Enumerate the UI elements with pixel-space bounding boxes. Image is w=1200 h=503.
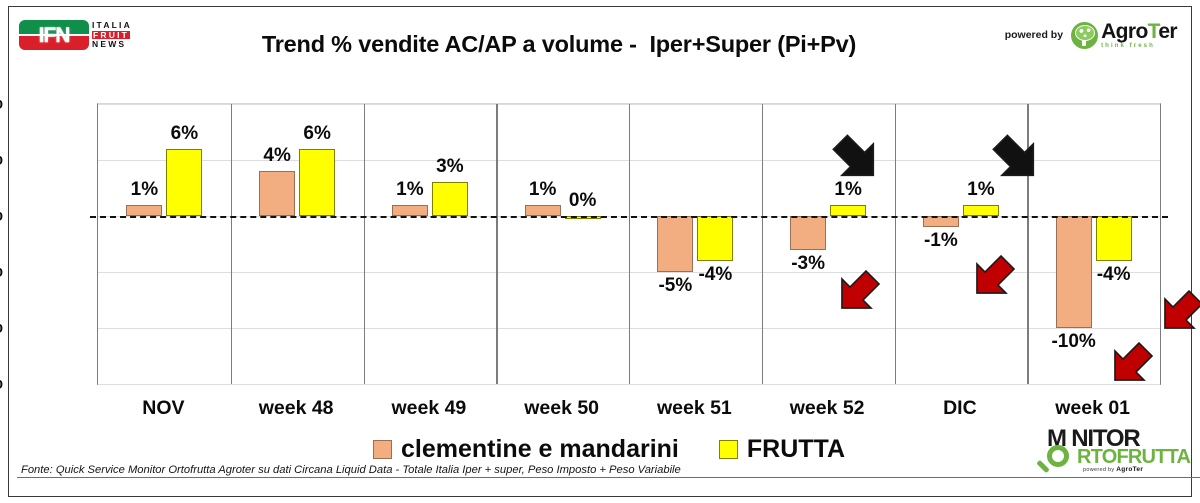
agroter-wordmark: AgroTer think fresh (1101, 21, 1177, 49)
ifn-wordmark: ITALIA FRUIT NEWS (92, 21, 132, 49)
legend-label-frutta: FRUTTA (747, 435, 845, 464)
agroter-logo: AgroTer think fresh (1071, 21, 1177, 49)
ifn-logo: IFN ITALIA FRUIT NEWS (19, 15, 147, 55)
bar-frutta (1096, 216, 1132, 261)
red-arrow-week52 (831, 265, 885, 324)
bar-value-label: 6% (171, 123, 198, 145)
bar-frutta (963, 205, 999, 216)
bar-value-label: 3% (436, 156, 463, 178)
bar-value-label: 1% (396, 179, 423, 201)
category-separator (629, 104, 630, 384)
category-separator (496, 104, 497, 384)
legend-swatch-clementine (373, 440, 392, 459)
bar-clementine (525, 205, 561, 216)
ifn-line-news: NEWS (92, 40, 132, 49)
page-title: Trend % vendite AC/AP a volume - Iper+Su… (189, 31, 929, 58)
y-tick-label: -15% (0, 372, 3, 395)
category-separator (895, 104, 896, 384)
bar-value-label: -3% (791, 253, 825, 275)
x-tick-label: week 49 (391, 397, 466, 420)
y-tick-label: 0% (0, 204, 3, 227)
x-tick-label: week 48 (259, 397, 334, 420)
zero-reference-line (90, 216, 1168, 218)
y-tick-label: 5% (0, 148, 3, 171)
bar-value-label: 0% (569, 190, 596, 212)
bar-clementine (1056, 216, 1092, 328)
ifn-badge-text: IFN (39, 25, 70, 46)
bar-frutta (432, 182, 468, 216)
x-tick-label: week 50 (524, 397, 599, 420)
bar-value-label: 1% (131, 179, 158, 201)
black-arrow-week52 (827, 129, 885, 192)
monitor-ortofrutta-logo: M NITOR RTOFRUTTA powered by AgroTer (1035, 428, 1177, 474)
monitor-powered-by: powered by AgroTer (1083, 466, 1143, 473)
bar-value-label: -10% (1051, 331, 1095, 353)
bar-frutta (697, 216, 733, 261)
bar-value-label: -4% (698, 264, 732, 286)
x-tick-label: week 01 (1055, 397, 1130, 420)
bar-frutta (299, 149, 335, 216)
magnifier-icon (1047, 445, 1069, 467)
bar-clementine (790, 216, 826, 250)
legend-label-clementine: clementine e mandarini (401, 435, 679, 464)
red-arrow-week01-frutta (1154, 285, 1200, 344)
bar-value-label: -4% (1097, 264, 1131, 286)
bar-frutta (166, 149, 202, 216)
footer-divider (17, 477, 1200, 478)
bar-value-label: 6% (303, 123, 330, 145)
legend-item-clementine: clementine e mandarini (373, 435, 679, 464)
category-separator (762, 104, 763, 384)
x-tick-label: NOV (142, 397, 184, 420)
ifn-line-fruit: FRUIT (92, 31, 130, 40)
category-separator (231, 104, 232, 384)
monitor-word-bottom: RTOFRUTTA (1077, 448, 1190, 467)
red-arrow-week01-clementine (1104, 337, 1158, 396)
powered-by-block: powered by AgroTer think fresh (1005, 21, 1177, 49)
bar-value-label: 4% (263, 145, 290, 167)
y-tick-label: -5% (0, 260, 3, 283)
agroter-tagline: think fresh (1101, 43, 1177, 49)
bar-frutta (830, 205, 866, 216)
x-tick-label: week 52 (790, 397, 865, 420)
legend-item-frutta: FRUTTA (719, 435, 845, 464)
bar-clementine (126, 205, 162, 216)
bar-clementine (392, 205, 428, 216)
category-separator (364, 104, 365, 384)
black-arrow-dic (987, 129, 1045, 192)
red-arrow-dic (966, 250, 1020, 309)
x-tick-label: week 51 (657, 397, 732, 420)
gridline (98, 384, 1160, 385)
bar-clementine (657, 216, 693, 272)
chart-frame: IFN ITALIA FRUIT NEWS Trend % vendite AC… (8, 6, 1192, 497)
bar-value-label: 1% (529, 179, 556, 201)
chart-legend: clementine e mandarini FRUTTA (9, 435, 1200, 464)
source-note: Fonte: Quick Service Monitor Ortofrutta … (21, 464, 681, 476)
y-tick-label: 10% (0, 92, 3, 115)
bar-value-label: -5% (658, 275, 692, 297)
ifn-badge: IFN (19, 20, 89, 50)
x-axis: NOVweek 48week 49week 50week 51week 52DI… (9, 397, 1200, 425)
tree-icon (1071, 22, 1098, 49)
x-tick-label: DIC (943, 397, 977, 420)
bar-value-label: -1% (924, 230, 958, 252)
y-tick-label: -10% (0, 316, 3, 339)
ifn-line-italia: ITALIA (92, 21, 132, 30)
legend-swatch-frutta (719, 440, 738, 459)
bar-clementine (259, 171, 295, 216)
powered-by-label: powered by (1005, 29, 1063, 41)
agroter-name: AgroTer (1101, 21, 1177, 42)
